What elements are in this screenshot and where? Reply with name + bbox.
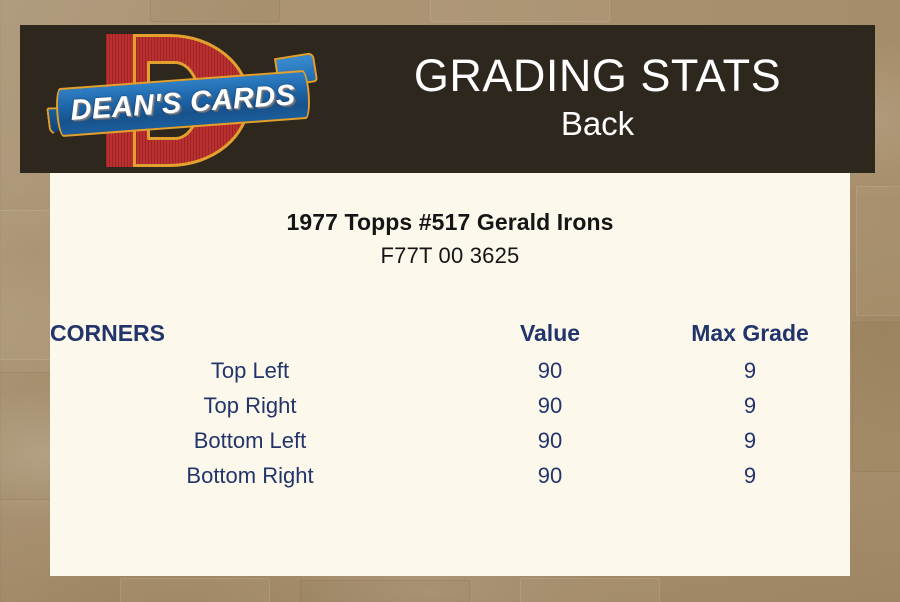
row-label: Bottom Right: [50, 458, 450, 493]
row-label: Top Left: [50, 353, 450, 388]
header-title-group: GRADING STATS Back: [320, 25, 875, 173]
row-max-grade: 9: [650, 388, 850, 423]
page-title: GRADING STATS: [414, 52, 781, 101]
card-serial-number: F77T 00 3625: [50, 243, 850, 269]
table-header-row: CORNERS Value Max Grade: [50, 313, 850, 353]
column-header-corners: CORNERS: [50, 313, 450, 353]
logo-ribbon-banner: DEAN'S CARDS: [48, 77, 318, 137]
background-card-ghost: [0, 210, 56, 360]
row-label: Top Right: [50, 388, 450, 423]
background-card-ghost: [856, 186, 900, 316]
stats-table-body: Top Left 90 9 Top Right 90 9 Bottom Left…: [50, 353, 850, 493]
background-card-ghost: [150, 0, 280, 22]
row-label: Bottom Left: [50, 423, 450, 458]
background-card-ghost: [520, 578, 660, 602]
table-row: Top Left 90 9: [50, 353, 850, 388]
column-header-value: Value: [450, 313, 650, 353]
row-value: 90: [450, 388, 650, 423]
background-card-ghost: [120, 578, 270, 602]
row-max-grade: 9: [650, 458, 850, 493]
table-row: Top Right 90 9: [50, 388, 850, 423]
grading-stats-table: CORNERS Value Max Grade Top Left 90 9 To…: [50, 313, 850, 493]
background-card-ghost: [852, 322, 900, 472]
table-row: Bottom Left 90 9: [50, 423, 850, 458]
row-max-grade: 9: [650, 353, 850, 388]
card-title: 1977 Topps #517 Gerald Irons: [50, 209, 850, 236]
background-card-ghost: [0, 372, 56, 500]
row-value: 90: [450, 353, 650, 388]
row-max-grade: 9: [650, 423, 850, 458]
deans-cards-logo[interactable]: DEAN'S CARDS: [48, 27, 318, 173]
stats-table-header: CORNERS Value Max Grade: [50, 313, 850, 353]
table-row: Bottom Right 90 9: [50, 458, 850, 493]
page-subtitle: Back: [561, 103, 634, 146]
row-value: 90: [450, 423, 650, 458]
background-card-ghost: [430, 0, 610, 22]
background-card-ghost: [300, 580, 470, 602]
content-panel: 1977 Topps #517 Gerald Irons F77T 00 362…: [50, 173, 850, 576]
logo-wordmark: DEAN'S CARDS: [46, 68, 319, 140]
page-root: DEAN'S CARDS GRADING STATS Back 1977 Top…: [0, 0, 900, 602]
header-band: DEAN'S CARDS GRADING STATS Back: [20, 25, 875, 173]
column-header-max-grade: Max Grade: [650, 313, 850, 353]
row-value: 90: [450, 458, 650, 493]
